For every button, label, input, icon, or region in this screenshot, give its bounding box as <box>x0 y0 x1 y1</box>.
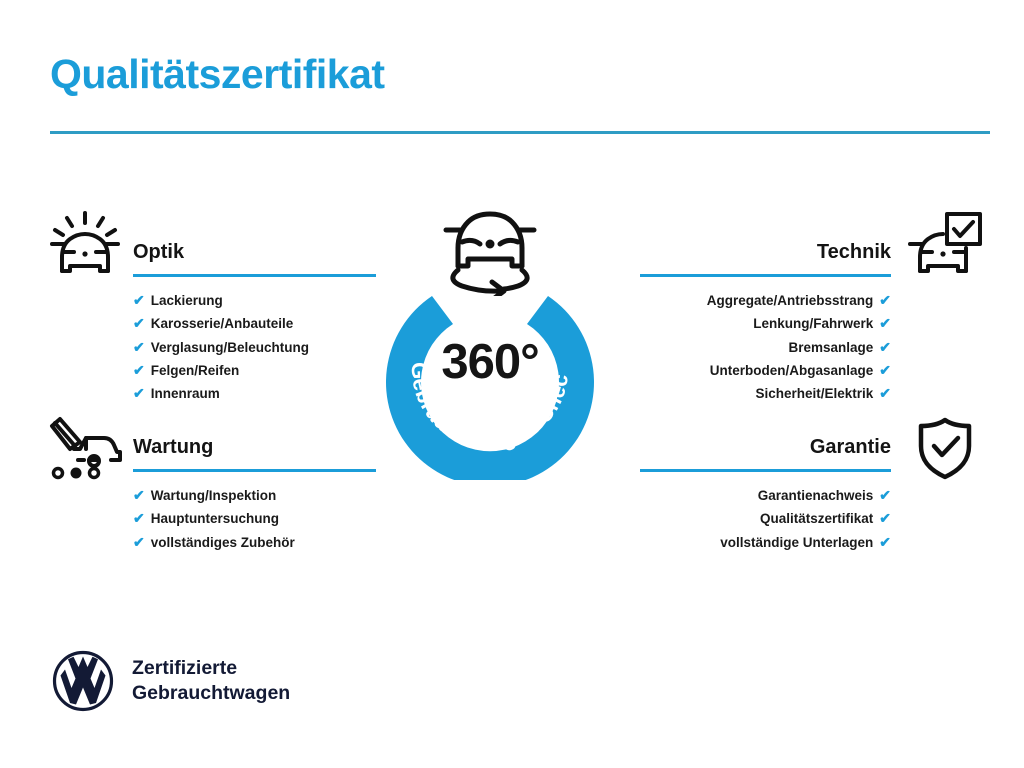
vw-logo-icon <box>52 650 114 712</box>
section-technik-header: Technik <box>640 239 891 277</box>
list-item-label: Aggregate/Antriebsstrang <box>707 289 874 312</box>
check-icon: ✔ <box>133 386 145 400</box>
list-item-label: Wartung/Inspektion <box>151 484 277 507</box>
list-item: ✔Karosserie/Anbauteile <box>133 312 376 335</box>
list-item: Garantienachweis✔ <box>640 484 891 507</box>
list-item-label: Hauptuntersuchung <box>151 507 279 530</box>
check-icon: ✔ <box>879 293 891 307</box>
list-item-label: Garantienachweis <box>758 484 874 507</box>
section-garantie: Garantie Garantienachweis✔ Qualitätszert… <box>640 434 891 554</box>
section-technik-list: Aggregate/Antriebsstrang✔ Lenkung/Fahrwe… <box>640 289 891 405</box>
list-item-label: Bremsanlage <box>788 336 873 359</box>
section-technik-title: Technik <box>640 239 891 265</box>
badge-value: 360° <box>380 334 600 390</box>
check-icon: ✔ <box>133 316 145 330</box>
section-wartung: Wartung ✔Wartung/Inspektion ✔Hauptunters… <box>133 434 376 554</box>
footer-brand: Zertifizierte Gebrauchtwagen <box>52 650 290 712</box>
section-optik-list: ✔Lackierung ✔Karosserie/Anbauteile ✔Verg… <box>133 289 376 405</box>
title-divider <box>50 131 990 134</box>
list-item: Bremsanlage✔ <box>640 336 891 359</box>
list-item: ✔Innenraum <box>133 382 376 405</box>
list-item: ✔Verglasung/Beleuchtung <box>133 336 376 359</box>
check-icon: ✔ <box>133 340 145 354</box>
section-garantie-divider <box>640 469 891 472</box>
check-icon: ✔ <box>879 316 891 330</box>
list-item: ✔Hauptuntersuchung <box>133 507 376 530</box>
car-checkbox-icon <box>906 211 984 275</box>
check-icon: ✔ <box>879 386 891 400</box>
section-technik-divider <box>640 274 891 277</box>
check-icon: ✔ <box>133 535 145 549</box>
footer-text: Zertifizierte Gebrauchtwagen <box>132 656 290 706</box>
list-item-label: Innenraum <box>151 382 220 405</box>
list-item: Unterboden/Abgasanlage✔ <box>640 359 891 382</box>
list-item-label: Qualitätszertifikat <box>760 507 873 530</box>
list-item-label: vollständige Unterlagen <box>720 531 873 554</box>
check-icon: ✔ <box>133 511 145 525</box>
list-item-label: Lackierung <box>151 289 223 312</box>
list-item-label: Sicherheit/Elektrik <box>755 382 873 405</box>
check-icon: ✔ <box>133 488 145 502</box>
section-technik: Technik Aggregate/Antriebsstrang✔ Lenkun… <box>640 239 891 405</box>
badge-360-gebrauchtwagen-check: Gebrauchtwagen-Check 360° <box>380 192 600 482</box>
check-icon: ✔ <box>133 293 145 307</box>
section-garantie-header: Garantie <box>640 434 891 472</box>
car-rotate-icon <box>436 192 544 296</box>
check-icon: ✔ <box>879 488 891 502</box>
list-item-label: Verglasung/Beleuchtung <box>151 336 309 359</box>
list-item: vollständige Unterlagen✔ <box>640 531 891 554</box>
check-icon: ✔ <box>133 363 145 377</box>
list-item: ✔Lackierung <box>133 289 376 312</box>
list-item-label: Felgen/Reifen <box>151 359 240 382</box>
check-icon: ✔ <box>879 511 891 525</box>
section-wartung-header: Wartung <box>133 434 376 472</box>
section-optik: Optik ✔Lackierung ✔Karosserie/Anbauteile… <box>133 239 376 405</box>
list-item-label: Karosserie/Anbauteile <box>151 312 294 335</box>
section-garantie-title: Garantie <box>640 434 891 460</box>
footer-line-1: Zertifizierte <box>132 656 290 681</box>
list-item-label: Unterboden/Abgasanlage <box>710 359 874 382</box>
list-item: Lenkung/Fahrwerk✔ <box>640 312 891 335</box>
section-wartung-title: Wartung <box>133 434 376 460</box>
car-shine-icon <box>46 211 124 275</box>
section-wartung-divider <box>133 469 376 472</box>
list-item: Qualitätszertifikat✔ <box>640 507 891 530</box>
section-optik-divider <box>133 274 376 277</box>
shield-check-icon <box>914 416 976 480</box>
check-icon: ✔ <box>879 340 891 354</box>
check-icon: ✔ <box>879 363 891 377</box>
section-garantie-list: Garantienachweis✔ Qualitätszertifikat✔ v… <box>640 484 891 554</box>
list-item: Sicherheit/Elektrik✔ <box>640 382 891 405</box>
check-icon: ✔ <box>879 535 891 549</box>
list-item: ✔Wartung/Inspektion <box>133 484 376 507</box>
footer-line-2: Gebrauchtwagen <box>132 681 290 706</box>
section-optik-title: Optik <box>133 239 376 265</box>
list-item: ✔Felgen/Reifen <box>133 359 376 382</box>
list-item-label: Lenkung/Fahrwerk <box>753 312 873 335</box>
car-service-pencil-icon <box>46 416 124 480</box>
list-item: Aggregate/Antriebsstrang✔ <box>640 289 891 312</box>
page-title: Qualitätszertifikat <box>50 52 385 97</box>
section-optik-header: Optik <box>133 239 376 277</box>
section-wartung-list: ✔Wartung/Inspektion ✔Hauptuntersuchung ✔… <box>133 484 376 554</box>
list-item-label: vollständiges Zubehör <box>151 531 295 554</box>
list-item: ✔vollständiges Zubehör <box>133 531 376 554</box>
